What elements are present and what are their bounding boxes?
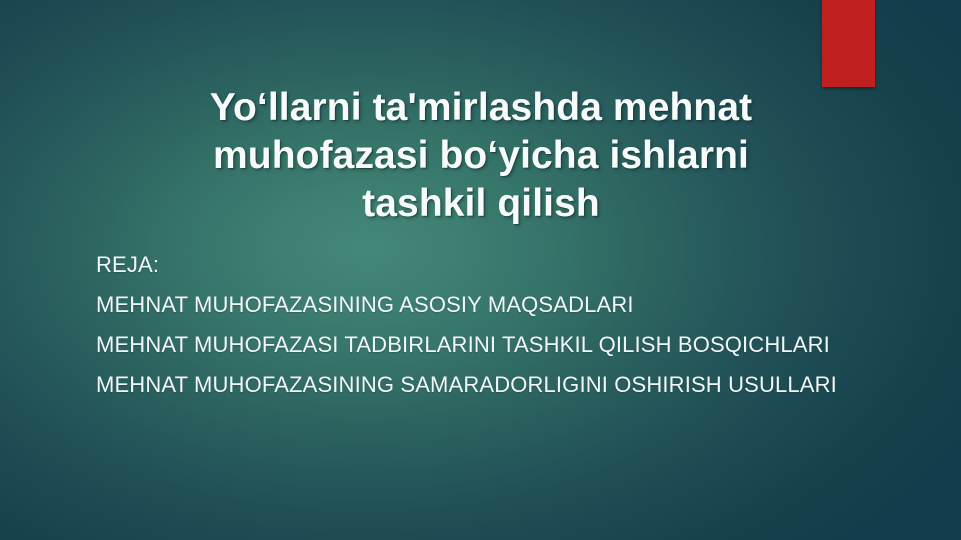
body-line-item-2: MEHNAT MUHOFAZASI TADBIRLARINI TASHKIL Q… bbox=[96, 330, 842, 359]
title-line-1: Yoʻllarni ta'mirlashda mehnat bbox=[96, 84, 866, 132]
red-accent-rectangle bbox=[822, 0, 875, 87]
title-line-2: muhofazasi boʻyicha ishlarni bbox=[96, 132, 866, 180]
slide-body-content: REJA: MEHNAT MUHOFAZASINING ASOSIY MAQSA… bbox=[96, 250, 842, 399]
body-line-item-3: MEHNAT MUHOFAZASINING SAMARADORLIGINI OS… bbox=[96, 370, 842, 399]
slide-title: Yoʻllarni ta'mirlashda mehnat muhofazasi… bbox=[96, 84, 866, 228]
presentation-slide: Yoʻllarni ta'mirlashda mehnat muhofazasi… bbox=[0, 0, 961, 540]
body-line-agenda-heading: REJA: bbox=[96, 250, 842, 279]
title-line-3: tashkil qilish bbox=[96, 180, 866, 228]
body-line-item-1: MEHNAT MUHOFAZASINING ASOSIY MAQSADLARI bbox=[96, 290, 842, 319]
